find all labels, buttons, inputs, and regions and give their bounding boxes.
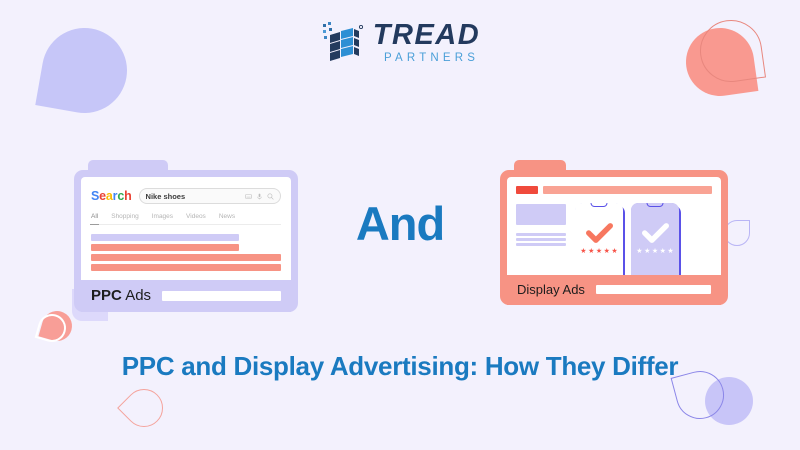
display-article-column: [516, 203, 566, 275]
search-query-text: Nike shoes: [146, 192, 241, 201]
display-website-screen: ★ ★ ★ ★ ★: [507, 177, 721, 275]
page-title: PPC and Display Advertising: How They Di…: [110, 348, 690, 385]
ad-phone-lavender-screen: ★ ★ ★ ★ ★: [631, 203, 679, 275]
ad-phone-white-star-rating: ★ ★ ★ ★ ★: [580, 248, 617, 255]
result-bar-ad-2: [91, 254, 281, 261]
ppc-ads-card: Search Nike shoes: [74, 160, 298, 312]
display-site-topbar: [516, 186, 712, 194]
star-icon: ★: [660, 248, 666, 255]
ppc-browser-screen: Search Nike shoes: [81, 177, 291, 280]
brand-wordmark: TREAD PARTNERS: [373, 21, 480, 65]
display-ads-label: Display Ads: [517, 282, 585, 297]
white-outline-drop-bottomleft-shape: [35, 311, 70, 346]
star-icon: ★: [667, 248, 673, 255]
result-bar-ad-1: [91, 244, 239, 251]
and-connector-text: And: [330, 196, 470, 251]
checkmark-icon: [642, 223, 669, 243]
star-icon: ★: [636, 248, 642, 255]
search-tab-images[interactable]: Images: [152, 213, 173, 220]
search-tab-news[interactable]: News: [219, 213, 235, 220]
display-ad-phones: ★ ★ ★ ★ ★: [575, 203, 679, 275]
star-icon: ★: [644, 248, 650, 255]
ppc-folder-body: Search Nike shoes: [74, 170, 298, 312]
search-logo-letter-h: h: [124, 189, 131, 203]
display-text-line-1: [516, 233, 566, 236]
result-bar-organic: [91, 234, 239, 241]
star-icon: ★: [580, 248, 586, 255]
search-tab-shopping[interactable]: Shopping: [111, 213, 138, 220]
checkmark-icon: [586, 223, 613, 243]
coral-drop-bottomleft-shape: [38, 307, 75, 344]
ppc-ads-label: PPC Ads: [91, 287, 151, 304]
ppc-footer-bar: [162, 291, 281, 301]
star-icon: ★: [604, 248, 610, 255]
display-site-logo-block: [516, 186, 538, 194]
ad-phone-lavender[interactable]: ★ ★ ★ ★ ★: [631, 203, 679, 275]
result-bar-ad-3: [91, 264, 281, 271]
star-icon: ★: [588, 248, 594, 255]
brand-tagline: PARTNERS: [373, 53, 480, 65]
star-icon: ★: [611, 248, 617, 255]
ad-phone-white-screen: ★ ★ ★ ★ ★: [575, 203, 623, 275]
search-input[interactable]: Nike shoes: [139, 188, 281, 204]
display-site-content: ★ ★ ★ ★ ★: [516, 203, 712, 275]
ad-phone-white[interactable]: ★ ★ ★ ★ ★: [575, 203, 623, 275]
ad-phone-lavender-star-rating: ★ ★ ★ ★ ★: [636, 248, 673, 255]
microphone-icon[interactable]: [256, 193, 263, 200]
search-logo-letter-a: a: [106, 189, 113, 203]
brand-logo: TREAD PARTNERS: [0, 20, 800, 66]
display-text-line-3: [516, 243, 566, 246]
tower-building-icon: [320, 20, 364, 66]
search-logo-letter-e: e: [99, 189, 106, 203]
search-tab-videos[interactable]: Videos: [186, 213, 206, 220]
lavender-circle-bottomright-shape: [705, 377, 753, 425]
search-bar-row: Search Nike shoes: [91, 188, 281, 204]
display-text-line-2: [516, 238, 566, 241]
search-result-bars: [91, 234, 281, 271]
display-site-nav-bar: [543, 186, 712, 194]
ad-phone-lavender-notch: [647, 203, 664, 207]
star-icon: ★: [596, 248, 602, 255]
search-tab-all[interactable]: All: [91, 213, 98, 220]
brand-name: TREAD: [373, 21, 480, 50]
display-card-footer: Display Ads: [507, 275, 721, 305]
search-result-tabs: All Shopping Images Videos News: [91, 213, 281, 225]
pink-outline-drop-title-shape: [117, 381, 171, 435]
display-footer-bar: [596, 285, 711, 294]
magnifier-icon[interactable]: [267, 193, 274, 200]
search-logo-letter-s: S: [91, 189, 99, 203]
display-article-image-block: [516, 204, 566, 225]
ad-phone-white-notch: [591, 203, 608, 207]
ppc-card-footer: PPC Ads: [81, 280, 291, 312]
display-article-text-lines: [516, 233, 566, 246]
ppc-label-light: Ads: [125, 287, 151, 304]
search-engine-logo: Search: [91, 189, 132, 203]
keyboard-icon[interactable]: [245, 193, 252, 200]
ppc-label-bold: PPC: [91, 287, 122, 304]
display-ads-card: ★ ★ ★ ★ ★: [500, 160, 728, 305]
star-icon: ★: [652, 248, 658, 255]
display-folder-body: ★ ★ ★ ★ ★: [500, 170, 728, 305]
